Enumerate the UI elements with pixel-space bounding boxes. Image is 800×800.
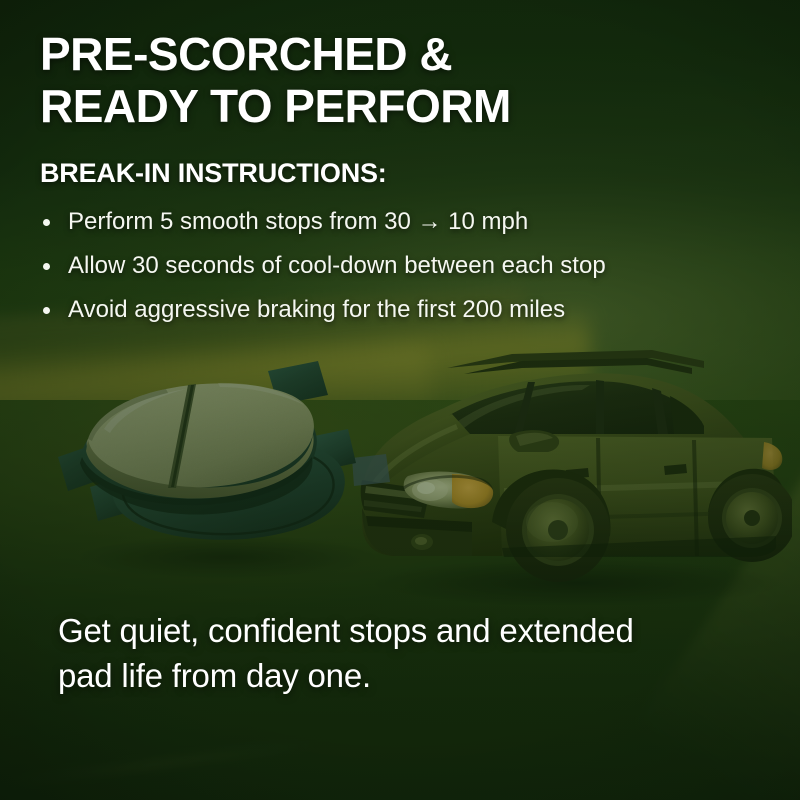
- instruction-text: Perform 5 smooth stops from 30 → 10 mph: [68, 208, 528, 235]
- instruction-text: Allow 30 seconds of cool-down between ea…: [68, 252, 606, 279]
- promotional-poster: PRE-SCORCHED & READY TO PERFORM BREAK-IN…: [0, 0, 800, 800]
- text-content-layer: PRE-SCORCHED & READY TO PERFORM BREAK-IN…: [0, 0, 800, 800]
- bullet-dot-icon: [43, 307, 50, 314]
- tagline-line-2: pad life from day one.: [58, 653, 634, 698]
- instruction-text: Avoid aggressive braking for the first 2…: [68, 296, 565, 323]
- headline: PRE-SCORCHED & READY TO PERFORM: [40, 28, 511, 132]
- subheading: BREAK-IN INSTRUCTIONS:: [40, 157, 387, 189]
- instructions-list: Perform 5 smooth stops from 30 → 10 mph …: [40, 200, 606, 332]
- tagline-line-1: Get quiet, confident stops and extended: [58, 608, 634, 653]
- bullet-dot-icon: [43, 263, 50, 270]
- list-item: Perform 5 smooth stops from 30 → 10 mph: [40, 200, 606, 244]
- bullet-dot-icon: [43, 219, 50, 226]
- tagline: Get quiet, confident stops and extended …: [58, 608, 634, 698]
- list-item: Avoid aggressive braking for the first 2…: [40, 288, 606, 332]
- headline-line-2: READY TO PERFORM: [40, 80, 511, 132]
- headline-line-1: PRE-SCORCHED &: [40, 28, 511, 80]
- list-item: Allow 30 seconds of cool-down between ea…: [40, 244, 606, 288]
